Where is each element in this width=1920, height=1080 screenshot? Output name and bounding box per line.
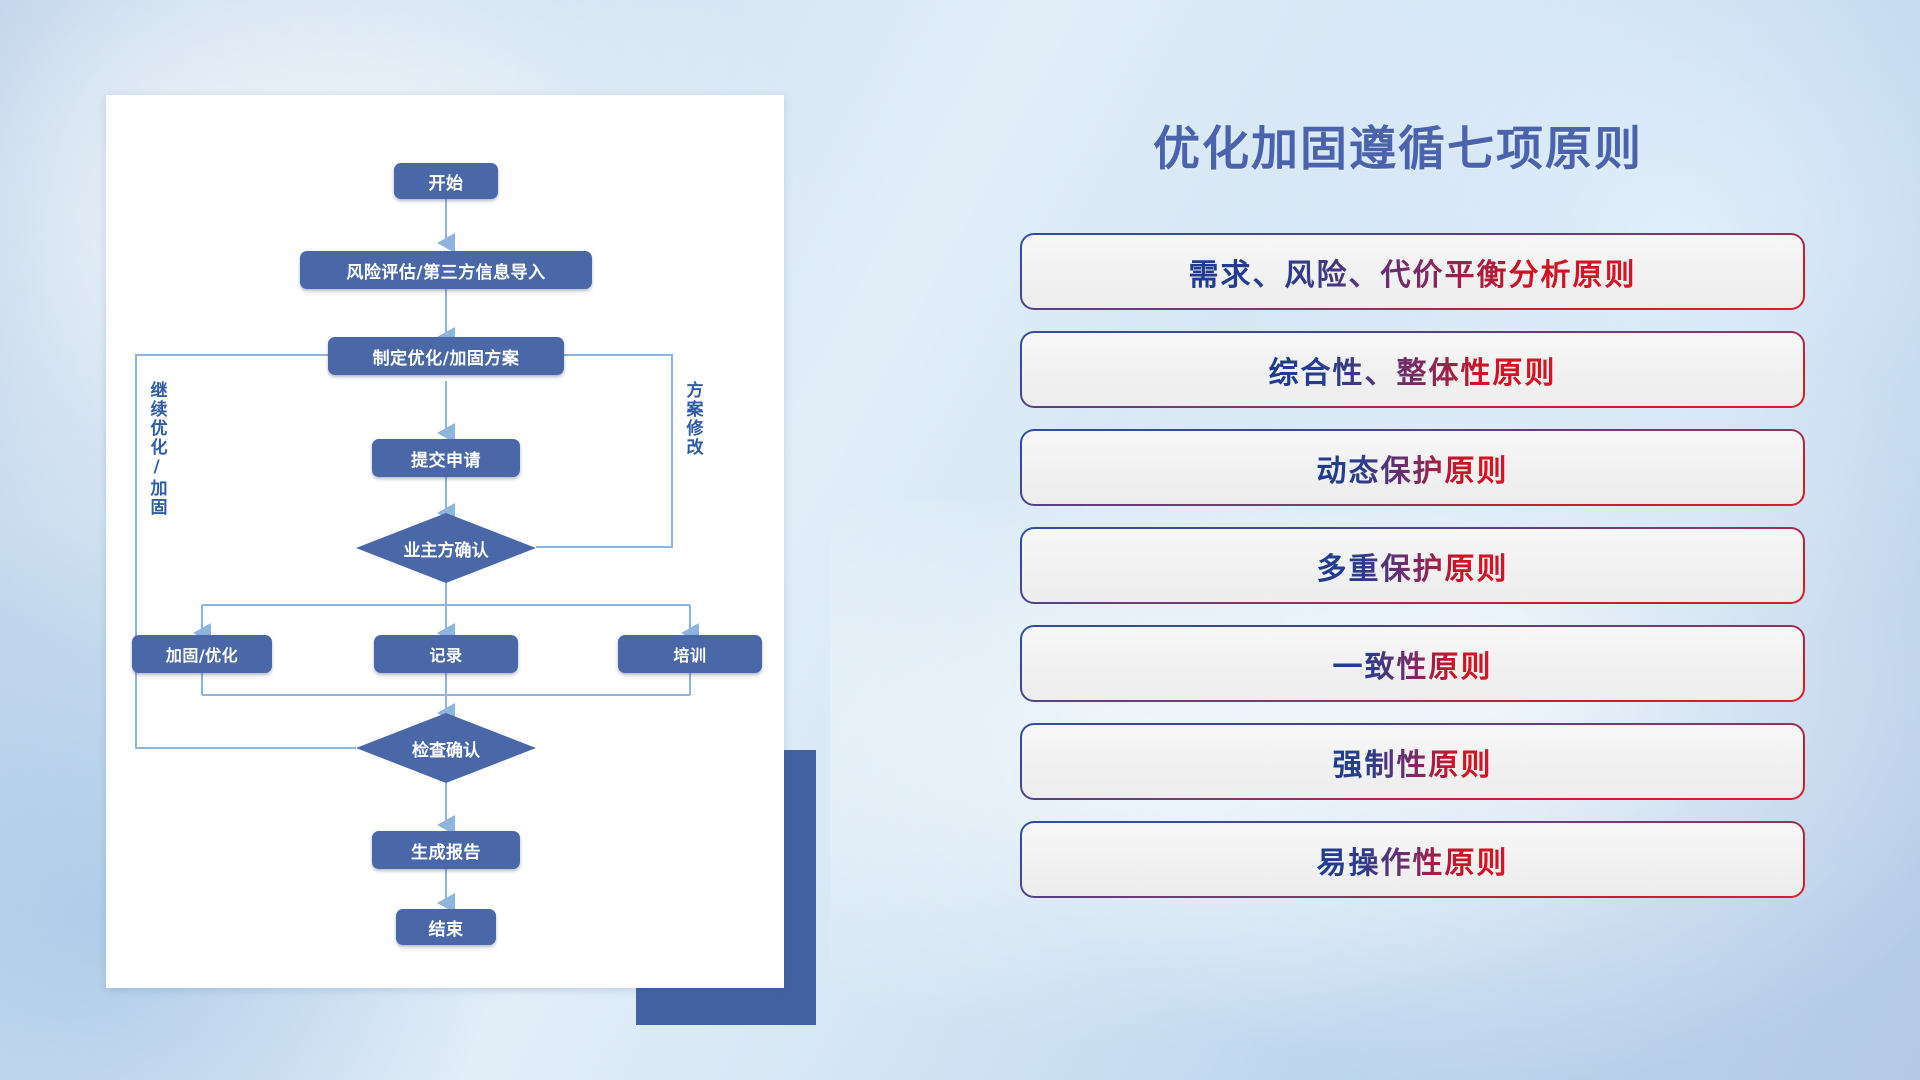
flowchart-card: 开始 风险评估/第三方信息导入 制定优化/加固方案 提交申请 业主方确认 加固/… [106, 95, 784, 988]
principle-item-5[interactable]: 一致性原则 [1020, 625, 1805, 702]
flow-node-label: 开始 [429, 169, 464, 194]
principle-item-6[interactable]: 强制性原则 [1020, 723, 1805, 800]
principle-label: 强制性原则 [1333, 740, 1493, 784]
flow-node-label: 制定优化/加固方案 [373, 344, 520, 369]
principle-frame: 综合性、整体性原则 [1020, 331, 1805, 408]
flow-node-label: 业主方确认 [404, 536, 489, 561]
flow-node-risk-assessment[interactable]: 风险评估/第三方信息导入 [300, 251, 592, 289]
principle-frame: 易操作性原则 [1020, 821, 1805, 898]
flow-node-start[interactable]: 开始 [394, 163, 498, 199]
principle-label: 需求、风险、代价平衡分析原则 [1189, 250, 1637, 294]
flow-node-generate-report[interactable]: 生成报告 [372, 831, 520, 869]
principle-label: 一致性原则 [1333, 642, 1493, 686]
flow-node-label: 加固/优化 [166, 642, 238, 666]
flow-node-label: 生成报告 [411, 838, 481, 863]
flow-node-label: 风险评估/第三方信息导入 [346, 258, 545, 283]
principle-frame: 一致性原则 [1020, 625, 1805, 702]
principle-item-1[interactable]: 需求、风险、代价平衡分析原则 [1020, 233, 1805, 310]
page-title: 优化加固遵循七项原则 [1153, 110, 1643, 179]
flow-decision-owner-confirm[interactable]: 业主方确认 [356, 513, 536, 583]
principle-label: 多重保护原则 [1317, 544, 1509, 588]
flow-node-label: 记录 [429, 642, 462, 666]
flowchart-panel: 开始 风险评估/第三方信息导入 制定优化/加固方案 提交申请 业主方确认 加固/… [106, 95, 796, 975]
flow-node-label: 培训 [673, 642, 706, 666]
flow-node-end[interactable]: 结束 [396, 909, 496, 945]
principles-list: 需求、风险、代价平衡分析原则 综合性、整体性原则 动态保护原则 多重保护原则 [1020, 233, 1920, 919]
principle-frame: 多重保护原则 [1020, 527, 1805, 604]
principle-label: 易操作性原则 [1317, 838, 1509, 882]
principle-item-2[interactable]: 综合性、整体性原则 [1020, 331, 1805, 408]
flow-node-label: 检查确认 [412, 736, 480, 761]
principle-frame: 强制性原则 [1020, 723, 1805, 800]
flow-node-submit-application[interactable]: 提交申请 [372, 439, 520, 477]
principle-item-3[interactable]: 动态保护原则 [1020, 429, 1805, 506]
principle-frame: 动态保护原则 [1020, 429, 1805, 506]
flow-edge-label-continue-optimize: 继续优化/加固 [146, 381, 166, 517]
flow-node-plan[interactable]: 制定优化/加固方案 [328, 337, 564, 375]
flow-node-training[interactable]: 培训 [618, 635, 762, 673]
principle-label: 综合性、整体性原则 [1269, 348, 1557, 392]
principles-panel: 优化加固遵循七项原则 需求、风险、代价平衡分析原则 综合性、整体性原则 动态保护… [1020, 0, 1920, 1080]
principle-item-7[interactable]: 易操作性原则 [1020, 821, 1805, 898]
principle-label: 动态保护原则 [1317, 446, 1509, 490]
flow-node-label: 提交申请 [411, 446, 481, 471]
principle-frame: 需求、风险、代价平衡分析原则 [1020, 233, 1805, 310]
flow-edge-label-plan-revision: 方案修改 [682, 381, 702, 457]
flow-decision-inspection-confirm[interactable]: 检查确认 [356, 713, 536, 783]
flow-node-label: 结束 [429, 915, 464, 940]
flow-node-record[interactable]: 记录 [374, 635, 518, 673]
flow-node-reinforce[interactable]: 加固/优化 [132, 635, 272, 673]
principle-item-4[interactable]: 多重保护原则 [1020, 527, 1805, 604]
